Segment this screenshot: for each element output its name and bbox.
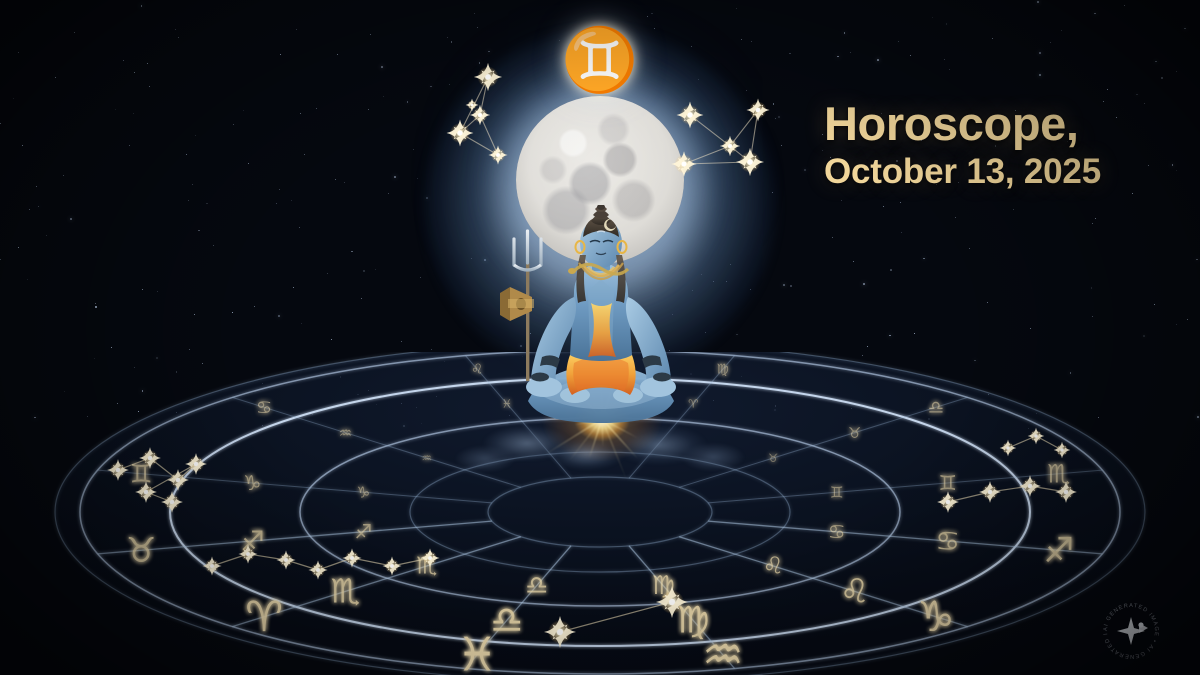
star-dot [1132,193,1133,194]
star-dot [783,284,785,286]
wheel-glyph-outer: ♈ [245,592,283,641]
star-dot [1092,316,1093,317]
star-dot [955,217,956,218]
wheel-glyph-core: ♊ [830,484,844,502]
wheel-glyph-inner: ♒ [339,425,352,442]
wheel-glyph-inner: ♋ [935,526,960,557]
star-dot [923,258,925,260]
star-dot [115,109,116,110]
star-dot [133,113,134,114]
constellation-star [746,98,769,121]
wheel-glyph-core: ♌ [763,552,784,580]
wheel-glyph-outer: ♉ [126,531,157,571]
star-dot [477,27,478,28]
star-dot [18,247,19,248]
star-dot [420,277,421,278]
star-dot [335,179,336,180]
star-dot [0,259,1,260]
wheel-glyph-outer: ♎ [928,398,944,419]
star-dot [361,298,362,299]
wheel-glyph-outer: ♋ [256,398,272,419]
star-dot [900,202,901,203]
star-dot [388,193,389,194]
star-dot [841,200,842,201]
wheel-glyph-inner: ♑ [243,471,261,495]
star-dot [243,110,244,111]
star-dot [863,283,865,285]
star-dot [142,289,143,290]
wheel-glyph-inner: ♉ [848,425,861,442]
star-dot [1095,218,1096,219]
star-dot [29,209,30,210]
wheel-glyph-core: ♑ [356,484,370,502]
star-dot [0,123,1,124]
wheel-glyph-inner: ♌ [840,572,870,611]
wheel-glyph-core: ♉ [768,451,778,465]
gemini-glyph-icon: ♊ [0,30,1200,92]
shiva-figure [470,205,732,457]
star-dot [987,302,988,303]
star-dot [95,303,96,304]
star-dot [63,175,64,176]
sparkle-star-icon [1117,617,1148,645]
wheel-glyph-core: ♒ [422,451,432,465]
star-dot [889,335,891,337]
star-dot [300,113,301,114]
star-dot [276,203,277,204]
star-dot [351,251,352,252]
star-dot [111,347,112,348]
star-dot [832,237,833,238]
gemini-constellation [420,55,550,175]
constellation-star [447,120,474,147]
headline-date: October 13, 2025 [824,154,1184,191]
wheel-glyph-inner: ♏ [331,572,361,611]
star-dot [1154,304,1155,305]
wheel-glyph-core: ♎ [525,571,548,601]
star-dot [1187,319,1188,320]
constellation-star [736,148,764,176]
star-dot [1091,287,1093,289]
star-dot [969,248,970,249]
star-dot [1092,223,1093,224]
star-dot [946,23,948,25]
star-dot [304,154,305,155]
star-dot [301,323,302,324]
wheel-glyph-outer: ♑ [917,592,955,641]
star-dot [883,206,884,207]
star-dot [375,269,376,270]
star-dot [344,182,345,183]
star-dot [1037,1,1039,3]
star-dot [95,306,96,307]
star-dot [206,203,207,204]
star-dot [853,261,854,262]
star-dot [383,96,384,97]
star-dot [822,134,823,135]
star-dot [316,108,318,110]
star-dot [291,200,292,201]
star-dot [417,178,418,179]
star-dot [141,5,143,7]
star-dot [1143,335,1145,337]
star-dot [413,149,414,150]
page-title: Horoscope, [824,100,1184,148]
constellation-star [720,136,740,156]
star-dot [1094,13,1096,15]
star-dot [1124,5,1125,6]
star-dot [213,245,214,246]
star-dot [914,333,915,334]
wheel-glyph-inner: ♎ [490,599,523,642]
ai-generated-watermark: AI GENERATED IMAGE • AI GENERATED IMAGE … [1098,598,1164,664]
headline-block: Horoscope, October 13, 2025 [824,100,1184,191]
star-dot [331,339,332,340]
star-dot [248,163,249,164]
star-dot [1136,94,1138,96]
star-dot [278,315,280,317]
wheel-glyph-inner: ♊ [938,471,956,495]
star-dot [736,8,737,9]
star-dot [254,306,255,307]
wheel-glyph-core: ♐ [354,520,372,543]
constellation-star [488,145,507,164]
star-dot [198,230,200,232]
star-dot [932,17,933,18]
star-dot [363,270,364,271]
star-dot [192,184,193,185]
star-dot [474,13,475,14]
star-dot [327,273,328,274]
star-dot [890,269,892,271]
star-dot [790,285,791,286]
star-dot [194,314,195,315]
star-dot [299,227,300,228]
star-dot [368,109,369,110]
star-dot [27,279,28,280]
star-dot [431,349,432,350]
star-dot [736,334,738,336]
star-dot [279,189,280,190]
star-dot [129,145,130,146]
star-dot [647,16,648,17]
star-dot [13,98,14,99]
star-dot [36,186,37,187]
star-dot [232,312,233,313]
star-dot [1176,324,1178,326]
star-dot [70,218,72,220]
star-dot [654,28,655,29]
star-dot [293,287,294,288]
star-dot [188,200,189,201]
star-dot [195,135,196,136]
constellation-star [677,102,704,129]
star-dot [901,232,903,234]
constellation-star [474,63,502,91]
constellation-star [671,151,697,177]
star-dot [233,124,234,125]
star-dot [1196,259,1198,261]
star-dot [189,349,191,351]
star-dot [407,101,409,103]
wheel-glyph-outer: ♐ [1043,531,1074,571]
star-dot [1030,328,1031,329]
cassiopeia-constellation [672,88,812,198]
star-dot [867,346,868,347]
star-dot [651,13,653,15]
star-dot [394,176,396,178]
star-dot [38,206,40,208]
star-dot [186,154,187,155]
wheel-glyph-core: ♋ [828,520,846,543]
horoscope-poster: ♊ Horoscope [0,0,1200,675]
